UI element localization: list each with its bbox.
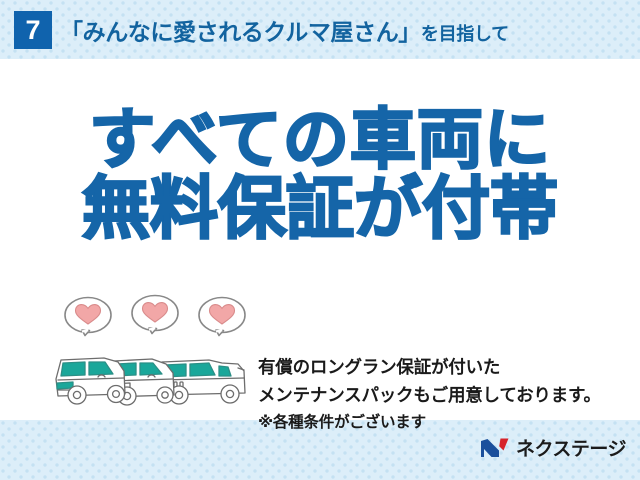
- header-title-sub: を目指して: [421, 24, 509, 44]
- heart-bubbles-group: [62, 291, 252, 347]
- cars-svg: [52, 349, 252, 411]
- headline-line-1: すべての車両に: [0, 105, 640, 174]
- body-line-1: 有償のロングラン保証が付いた: [258, 353, 601, 381]
- lower-section: 有償のロングラン保証が付いた メンテナンスパックもご用意しております。 ※各種条…: [0, 291, 640, 419]
- headline-line-2: 無料保証が付帯: [0, 174, 640, 245]
- brand-name: ネクステージ: [516, 434, 626, 461]
- brand-logo: ネクステージ: [480, 434, 626, 461]
- footer: ネクステージ: [0, 420, 640, 480]
- header-title-main: 「みんなに愛されるクルマ屋さん」: [60, 19, 421, 45]
- section-number-badge: 7: [14, 11, 52, 49]
- nextage-n-mark-icon: [480, 437, 510, 459]
- header: 7 「みんなに愛されるクルマ屋さん」を目指して: [0, 0, 640, 60]
- speech-bubble-2: [129, 293, 181, 337]
- speech-bubble-3: [196, 295, 248, 339]
- heart-icon: [196, 295, 248, 339]
- heart-icon: [129, 293, 181, 337]
- speech-bubble-1: [62, 295, 114, 339]
- header-title: 「みんなに愛されるクルマ屋さん」を目指して: [60, 13, 509, 47]
- advertisement-page: 7 「みんなに愛されるクルマ屋さん」を目指して すべての車両に 無料保証が付帯: [0, 0, 640, 480]
- content-panel: すべての車両に 無料保証が付帯: [0, 59, 640, 420]
- headline: すべての車両に 無料保証が付帯: [0, 105, 640, 244]
- body-line-2: メンテナンスパックもご用意しております。: [258, 381, 601, 409]
- car-kei-wagon: [56, 358, 125, 404]
- heart-icon: [62, 295, 114, 339]
